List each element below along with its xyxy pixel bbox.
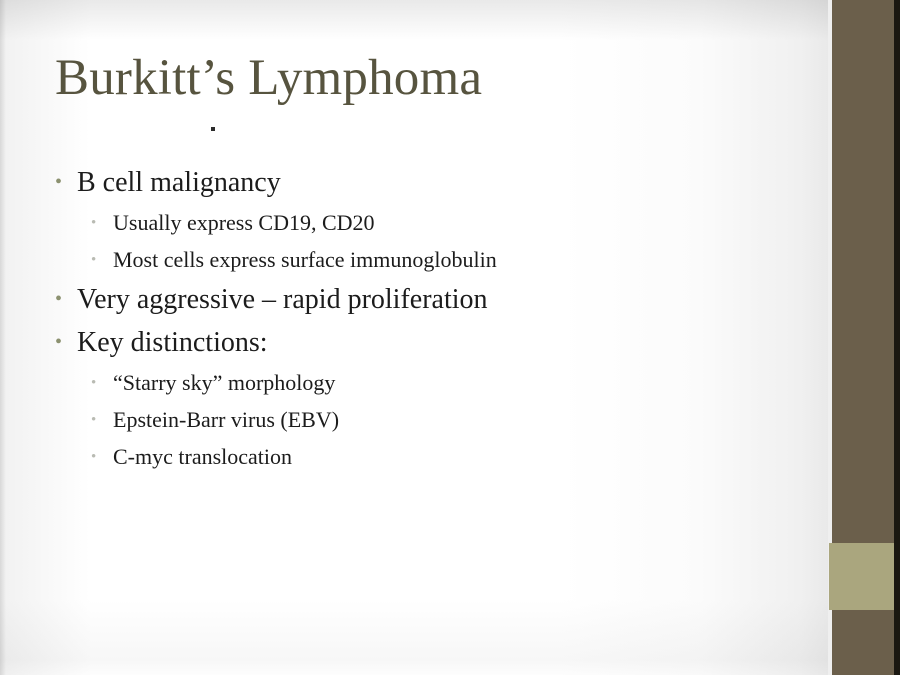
bullet-item-level2: •Most cells express surface immunoglobul…: [55, 242, 775, 278]
bullet-item-level2: •“Starry sky” morphology: [55, 365, 775, 401]
bullet-item-text: Usually express CD19, CD20: [113, 205, 375, 241]
bullet-item-level1: •B cell malignancy: [55, 162, 775, 203]
bullet-dot-icon: •: [55, 172, 77, 192]
bullet-item-level2: •Epstein-Barr virus (EBV): [55, 402, 775, 438]
bullet-dot-icon: •: [91, 216, 113, 231]
bullet-item-level1: •Key distinctions:: [55, 322, 775, 363]
presentation-slide: Burkitt’s Lymphoma •B cell malignancy•Us…: [0, 0, 900, 675]
bullet-item-level1: •Very aggressive – rapid proliferation: [55, 279, 775, 320]
right-band-accent-block: [829, 543, 894, 610]
bullet-item-text: Key distinctions:: [77, 322, 268, 363]
bullet-dot-icon: •: [91, 450, 113, 465]
bullet-item-text: B cell malignancy: [77, 162, 281, 203]
bullet-dot-icon: •: [91, 376, 113, 391]
bullet-item-text: “Starry sky” morphology: [113, 365, 335, 401]
slide-body-content: •B cell malignancy•Usually express CD19,…: [55, 162, 775, 476]
right-band-dark-edge: [894, 0, 900, 675]
title-underline-dot-icon: [211, 127, 215, 131]
bullet-item-level2: •C-myc translocation: [55, 439, 775, 475]
bullet-dot-icon: •: [55, 332, 77, 352]
bullet-item-level2: •Usually express CD19, CD20: [55, 205, 775, 241]
bullet-dot-icon: •: [91, 413, 113, 428]
slide-title: Burkitt’s Lymphoma: [55, 52, 482, 106]
bullet-dot-icon: •: [91, 253, 113, 268]
bullet-item-text: C-myc translocation: [113, 439, 292, 475]
bullet-item-text: Epstein-Barr virus (EBV): [113, 402, 339, 438]
bullet-item-text: Very aggressive – rapid proliferation: [77, 279, 488, 320]
bullet-item-text: Most cells express surface immunoglobuli…: [113, 242, 497, 278]
bullet-dot-icon: •: [55, 289, 77, 309]
